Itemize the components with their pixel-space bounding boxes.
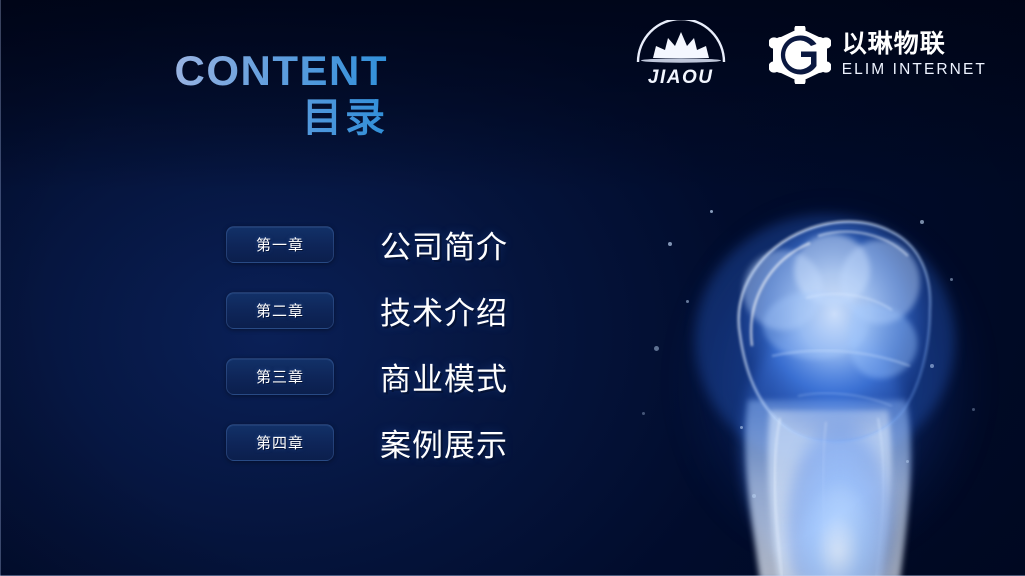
menu-item-2[interactable]: 第二章 技术介绍 — [226, 288, 508, 333]
menu-item-title[interactable]: 技术介绍 — [380, 288, 508, 333]
menu-item-title[interactable]: 案例展示 — [380, 420, 508, 465]
chapter-chip-label: 第四章 — [256, 432, 304, 453]
logo-elim-text: 以琳物联 ELIM INTERNET — [842, 32, 987, 78]
fist-energy-stream-core — [778, 450, 898, 576]
logo-bar: JIAOU 以琳物联 ELIM INTERNET — [629, 20, 987, 89]
logo-elim: 以琳物联 ELIM INTERNET — [769, 26, 987, 84]
logo-jiaou: JIAOU — [629, 20, 733, 89]
content-menu: 第一章 公司简介 第二章 技术介绍 第三章 商业模式 第四章 案例展示 — [226, 222, 508, 465]
menu-item-title[interactable]: 公司简介 — [380, 222, 508, 267]
chapter-chip-label: 第二章 — [256, 300, 304, 321]
logo-elim-name-en: ELIM INTERNET — [842, 62, 987, 78]
chapter-chip-1[interactable]: 第一章 — [226, 226, 334, 263]
logo-elim-name-cn: 以琳物联 — [842, 32, 987, 57]
menu-item-1[interactable]: 第一章 公司简介 — [226, 222, 508, 267]
menu-item-title[interactable]: 商业模式 — [380, 354, 508, 399]
chapter-chip-2[interactable]: 第二章 — [226, 292, 334, 329]
heading-english: CONTENT — [90, 50, 390, 92]
menu-item-4[interactable]: 第四章 案例展示 — [226, 420, 508, 465]
chapter-chip-3[interactable]: 第三章 — [226, 358, 334, 395]
heading-chinese: 目录 — [90, 98, 390, 138]
logo-jiaou-wordmark: JIAOU — [648, 67, 714, 89]
sunrise-arch-icon — [630, 20, 732, 66]
menu-item-3[interactable]: 第三章 商业模式 — [226, 354, 508, 399]
chapter-chip-4[interactable]: 第四章 — [226, 424, 334, 461]
slide-canvas: CONTENT 目录 JIAOU 以琳物联 — [0, 0, 1025, 576]
fist-artwork — [620, 150, 1025, 576]
chapter-chip-label: 第一章 — [256, 234, 304, 255]
molecule-g-icon — [769, 26, 831, 84]
chapter-chip-label: 第三章 — [256, 366, 304, 387]
slide-heading: CONTENT 目录 — [90, 50, 390, 138]
